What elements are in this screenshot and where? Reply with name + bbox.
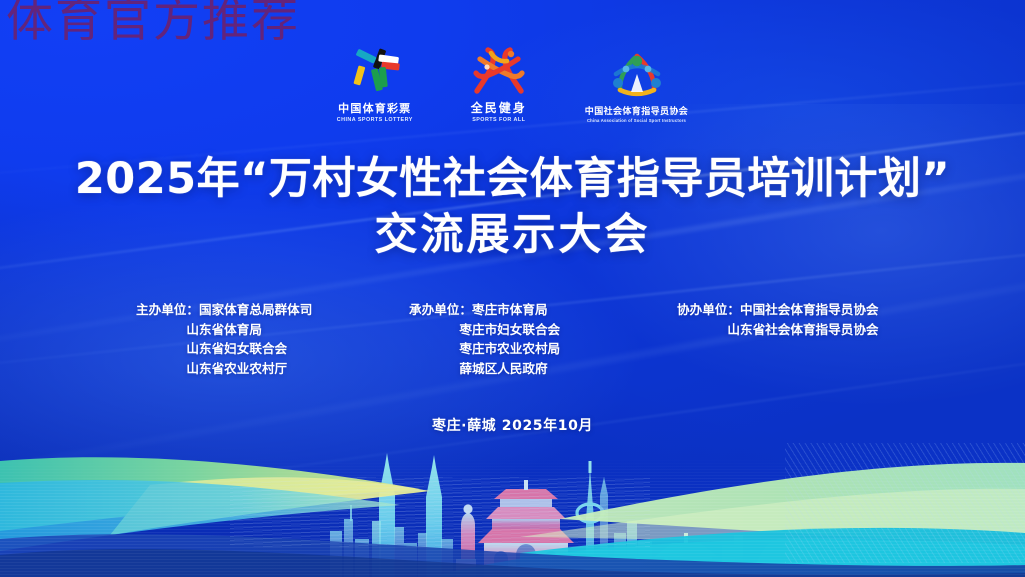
organizer-label: 主办单位： [136, 302, 199, 317]
china-sports-lottery-icon [343, 45, 407, 97]
organizer-block-supporter: 协办单位：中国社会体育指导员协会 山东省社会体育指导员协会 [677, 300, 879, 339]
organizer-value: 中国社会体育指导员协会 [740, 302, 879, 317]
logo-label-en: SPORTS FOR ALL [472, 117, 525, 123]
title-line-1: 2025年“万村女性社会体育指导员培训计划” [0, 152, 1025, 208]
poster-title: 2025年“万村女性社会体育指导员培训计划” 交流展示大会 [0, 152, 1025, 264]
organizer-line: 主办单位：国家体育总局群体司 [136, 300, 312, 320]
organizer-line: 承办单位：枣庄市体育局 [409, 300, 560, 320]
organizer-line: 薛城区人民政府 [409, 359, 560, 379]
organizer-line: 协办单位：中国社会体育指导员协会 [677, 300, 879, 320]
watermark-text: 体育官方推荐 [6, 0, 300, 45]
logo-social-sport-instructors: 中国社会体育指导员协会 China Association of Social … [585, 49, 688, 123]
logo-label-cn: 中国体育彩票 [338, 100, 411, 116]
organizer-label: 协办单位： [677, 302, 740, 317]
logo-label-cn: 中国社会体育指导员协会 [585, 104, 688, 117]
organizer-line: 枣庄市妇女联合会 [409, 320, 560, 340]
organizer-line: 山东省妇女联合会 [136, 339, 312, 359]
logo-label-cn: 全民健身 [471, 99, 527, 116]
logo-sports-for-all: 全民健身 SPORTS FOR ALL [471, 44, 527, 123]
organizer-line: 山东省社会体育指导员协会 [677, 320, 879, 340]
event-poster: 体育官方推荐 中国体育彩票 CHINA SPORTS LOT [0, 0, 1025, 577]
organizer-value: 国家体育总局群体司 [199, 302, 312, 317]
organizer-line: 山东省农业农村厅 [136, 359, 312, 379]
organizer-line: 山东省体育局 [136, 320, 312, 340]
logo-label-en: China Association of Social Sport Instru… [587, 118, 686, 123]
ribbon-waves [0, 427, 1025, 577]
sponsor-logo-row: 中国体育彩票 CHINA SPORTS LOTTERY 全民健身 [0, 44, 1025, 123]
sports-for-all-icon [471, 44, 527, 96]
title-line-2: 交流展示大会 [0, 208, 1025, 264]
organizer-section: 主办单位：国家体育总局群体司 山东省体育局 山东省妇女联合会 山东省农业农村厅 … [0, 300, 1025, 390]
organizer-value: 枣庄市体育局 [472, 302, 548, 317]
organizer-block-host: 主办单位：国家体育总局群体司 山东省体育局 山东省妇女联合会 山东省农业农村厅 [136, 300, 312, 378]
logo-label-en: CHINA SPORTS LOTTERY [337, 117, 413, 123]
organizer-block-co-host: 承办单位：枣庄市体育局 枣庄市妇女联合会 枣庄市农业农村局 薛城区人民政府 [409, 300, 560, 378]
social-sport-instructors-icon [609, 49, 665, 101]
organizer-label: 承办单位： [409, 302, 472, 317]
bottom-scene [0, 417, 1025, 577]
organizer-line: 枣庄市农业农村局 [409, 339, 560, 359]
logo-china-sports-lottery: 中国体育彩票 CHINA SPORTS LOTTERY [337, 45, 413, 123]
